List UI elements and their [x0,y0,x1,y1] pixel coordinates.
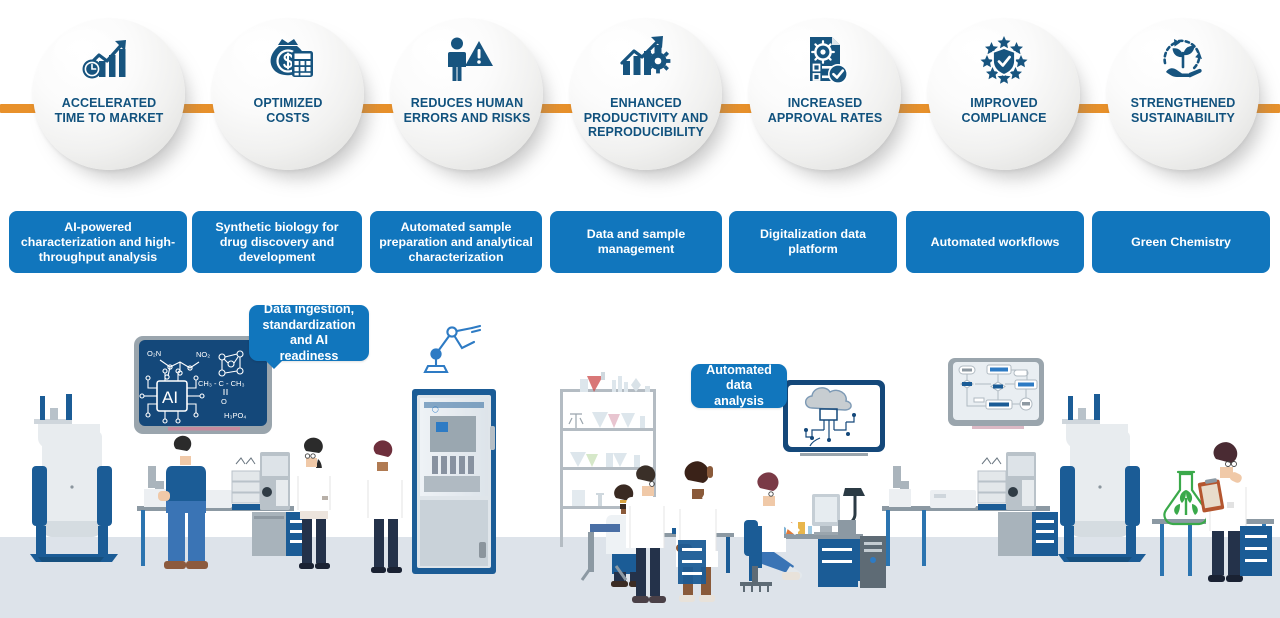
bar-chart-gear-arrow-icon [570,34,722,86]
lc-ms-bench-left [137,452,312,566]
benefit-label-line: REDUCES HUMAN [395,96,539,111]
callout-automated-data-analysis[interactable]: Automated data analysis [691,364,787,408]
nmr-spectrometer-right [1058,394,1146,562]
growth-chart-clock-icon [33,34,185,86]
bench-drawers-right [1240,526,1272,576]
benefit-label-line: COSTS [216,111,360,126]
workflow-diagram-screen [948,358,1044,429]
lab-scene: O₂N NO₂ CH₃ - C - CH₃ O H₃PO₄ A [0,276,1280,618]
capability-label: Digitalization data platform [738,227,888,257]
benefit-optimized-costs[interactable]: OPTIMIZED COSTS [212,18,364,170]
benefit-label-line: ACCELERATED [37,96,181,111]
benefit-reduces-human-errors[interactable]: REDUCES HUMAN ERRORS AND RISKS [391,18,543,170]
capability-automated-sample-prep[interactable]: Automated sample preparation and analyti… [370,211,542,273]
robot-arm-icon [425,326,480,372]
benefit-label-line: ERRORS AND RISKS [395,111,539,126]
benefit-label: REDUCES HUMAN ERRORS AND RISKS [395,96,539,125]
benefit-enhanced-productivity[interactable]: ENHANCED PRODUCTIVITY AND REPRODUCIBILIT… [570,18,722,170]
callout-data-ingestion[interactable]: Data ingestion, standardization and AI r… [249,305,369,361]
benefit-label-line: PRODUCTIVITY AND [574,111,718,126]
lc-ms-bench-right [882,452,1058,566]
cloud-ai-screen [783,380,885,456]
capability-label: Green Chemistry [1131,235,1231,250]
benefit-label-line: APPROVAL RATES [753,111,897,126]
capability-label: Synthetic biology for drug discovery and… [201,220,353,265]
benefit-label-line: SUSTAINABILITY [1111,111,1255,126]
nmr-spectrometer-left [30,394,118,562]
svg-text:AI: AI [162,388,178,407]
benefit-strengthened-sustainability[interactable]: STRENGTHENED SUSTAINABILITY [1107,18,1259,170]
scientist-clipboard [1198,442,1246,582]
capability-data-and-sample-management[interactable]: Data and sample management [550,211,722,273]
benefits-row: ACCELERATED TIME TO MARKET [0,0,1280,195]
callout-label: Data ingestion, standardization and AI r… [261,302,357,364]
svg-text:◯: ◯ [432,406,439,413]
scientist-back-white-coat [364,440,402,573]
person-warning-icon [391,34,543,86]
capability-label: Automated workflows [931,235,1060,250]
shield-stars-icon [928,34,1080,86]
benefit-label-line: OPTIMIZED [216,96,360,111]
capability-synthetic-biology[interactable]: Synthetic biology for drug discovery and… [192,211,362,273]
benefit-label: IMPROVED COMPLIANCE [932,96,1076,125]
capability-label: AI-powered characterization and high-thr… [18,220,178,265]
lab-illustration: O₂N NO₂ CH₃ - C - CH₃ O H₃PO₄ A [0,276,1280,618]
capability-digitalization-data-platform[interactable]: Digitalization data platform [729,211,897,273]
lab-stool-drawers [678,540,706,584]
capability-automated-workflows[interactable]: Automated workflows [906,211,1084,273]
benefit-increased-approval-rates[interactable]: INCREASED APPROVAL RATES [749,18,901,170]
capability-ai-powered-characterization[interactable]: AI-powered characterization and high-thr… [9,211,187,273]
svg-text:O: O [221,397,227,406]
benefit-label-line: ENHANCED [574,96,718,111]
benefit-label-line: STRENGTHENED [1111,96,1255,111]
capabilities-row: AI-powered characterization and high-thr… [0,211,1280,275]
svg-text:H₃PO₄: H₃PO₄ [224,411,246,420]
benefit-label-line: REPRODUCIBILITY [574,125,718,140]
callout-label: Automated data analysis [703,363,775,410]
svg-text:NO₂: NO₂ [196,350,210,359]
hand-plant-recycle-icon [1107,34,1259,86]
capability-green-chemistry[interactable]: Green Chemistry [1092,211,1270,273]
benefit-label: ACCELERATED TIME TO MARKET [37,96,181,125]
capability-label: Automated sample preparation and analyti… [379,220,533,265]
benefit-label: STRENGTHENED SUSTAINABILITY [1111,96,1255,125]
benefit-label-line: IMPROVED [932,96,1076,111]
benefit-improved-compliance[interactable]: IMPROVED COMPLIANCE [928,18,1080,170]
benefit-label-line: COMPLIANCE [932,111,1076,126]
benefit-label-line: TIME TO MARKET [37,111,181,126]
svg-text:O₂N: O₂N [147,349,161,358]
money-bag-calculator-icon [212,34,364,86]
infographic-canvas: ACCELERATED TIME TO MARKET [0,0,1280,618]
benefit-label: OPTIMIZED COSTS [216,96,360,125]
svg-text:CH₃ - C - CH₃: CH₃ - C - CH₃ [198,379,245,388]
benefit-label: INCREASED APPROVAL RATES [753,96,897,125]
benefit-label: ENHANCED PRODUCTIVITY AND REPRODUCIBILIT… [574,96,718,140]
automation-cabinet: ◯ [412,389,496,574]
benefit-accelerated-time-to-market[interactable]: ACCELERATED TIME TO MARKET [33,18,185,170]
benefit-label-line: INCREASED [753,96,897,111]
document-gear-checkmark-icon [749,34,901,86]
capability-label: Data and sample management [559,227,713,257]
